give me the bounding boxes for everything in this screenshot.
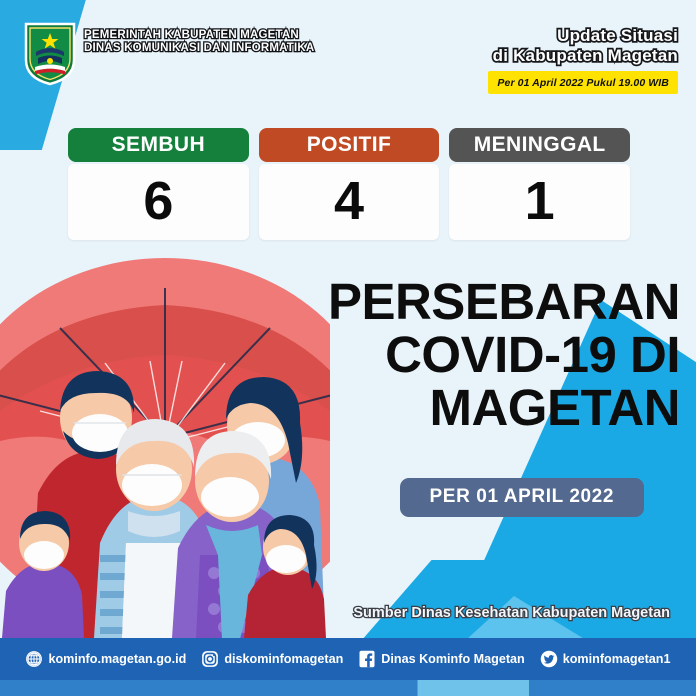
source-label: Sumber Dinas Kesehatan Kabupaten Magetan	[353, 605, 670, 621]
footer-item-instagram[interactable]: diskominfomagetan	[201, 650, 343, 668]
instagram-icon	[201, 650, 219, 668]
social-footer-bar: kominfo.magetan.go.id diskominfomagetan …	[0, 638, 696, 680]
stat-card-positif: POSITIF 4	[259, 128, 440, 240]
footer-strip-gradient	[0, 680, 696, 696]
footer-label-twitter: kominfomagetan1	[563, 652, 671, 666]
magetan-regency-emblem-icon	[22, 20, 78, 86]
footer-item-twitter[interactable]: kominfomagetan1	[540, 650, 671, 668]
stat-value-positif: 4	[334, 174, 364, 228]
facebook-icon	[358, 650, 376, 668]
stat-label-sembuh: SEMBUH	[112, 133, 205, 157]
timestamp-badge: Per 01 April 2022 Pukul 19.00 WIB	[488, 71, 678, 94]
footer-label-website: kominfo.magetan.go.id	[48, 652, 186, 666]
stat-value-box-sembuh: 6	[68, 164, 249, 240]
title-line-1: PERSEBARAN	[260, 275, 680, 328]
update-title-line-2: di Kabupaten Magetan	[488, 46, 678, 66]
footer-item-facebook[interactable]: Dinas Kominfo Magetan	[358, 650, 524, 668]
title-line-3: MAGETAN	[260, 381, 680, 434]
stat-card-header-meninggal: MENINGGAL	[449, 128, 630, 162]
stat-card-header-sembuh: SEMBUH	[68, 128, 249, 162]
title-line-2: COVID-19 DI	[260, 328, 680, 381]
stat-label-positif: POSITIF	[307, 133, 391, 157]
date-badge: PER 01 APRIL 2022	[400, 478, 644, 517]
footer-item-website[interactable]: kominfo.magetan.go.id	[25, 650, 186, 668]
update-title-line-1: Update Situasi	[488, 26, 678, 46]
stat-label-meninggal: MENINGGAL	[474, 133, 606, 157]
footer-label-instagram: diskominfomagetan	[224, 652, 343, 666]
globe-icon	[25, 650, 43, 668]
stat-value-meninggal: 1	[525, 174, 555, 228]
poster-title: PERSEBARAN COVID-19 DI MAGETAN	[260, 275, 680, 434]
org-line-1: PEMERINTAH KABUPATEN MAGETAN	[84, 29, 314, 42]
footer-label-facebook: Dinas Kominfo Magetan	[381, 652, 524, 666]
poster-header: PEMERINTAH KABUPATEN MAGETAN DINAS KOMUN…	[0, 0, 696, 108]
org-line-2: DINAS KOMUNIKASI DAN INFORMATIKA	[84, 42, 314, 55]
infographic-poster: PEMERINTAH KABUPATEN MAGETAN DINAS KOMUN…	[0, 0, 696, 696]
timestamp-badge-label: Per 01 April 2022 Pukul 19.00 WIB	[497, 77, 669, 89]
organization-name: PEMERINTAH KABUPATEN MAGETAN DINAS KOMUN…	[84, 29, 314, 55]
stat-card-meninggal: MENINGGAL 1	[449, 128, 630, 240]
date-badge-label: PER 01 APRIL 2022	[430, 486, 614, 507]
update-status-block: Update Situasi di Kabupaten Magetan Per …	[488, 26, 678, 94]
footer-bottom-strip	[0, 680, 696, 696]
stat-value-sembuh: 6	[143, 174, 173, 228]
stat-value-box-positif: 4	[259, 164, 440, 240]
statistics-row: SEMBUH 6 POSITIF 4 MENINGGAL 1	[68, 128, 630, 240]
stat-card-header-positif: POSITIF	[259, 128, 440, 162]
twitter-icon	[540, 650, 558, 668]
stat-card-sembuh: SEMBUH 6	[68, 128, 249, 240]
stat-value-box-meninggal: 1	[449, 164, 630, 240]
source-attribution: Sumber Dinas Kesehatan Kabupaten Magetan	[353, 604, 670, 622]
